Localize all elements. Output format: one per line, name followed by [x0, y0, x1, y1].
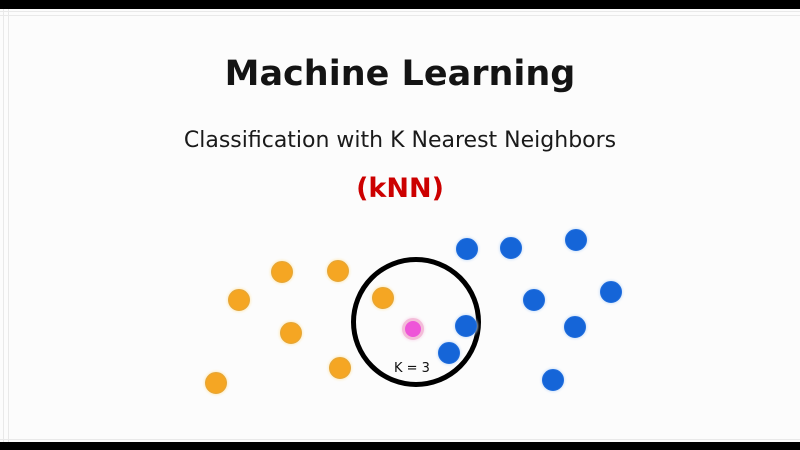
- slide-acronym: (kNN): [0, 172, 800, 206]
- data-point-class-b: [600, 281, 622, 303]
- data-point-class-b: [565, 229, 587, 251]
- data-point-class-a: [228, 289, 250, 311]
- data-point-class-a: [327, 260, 349, 282]
- video-frame: Machine Learning Classification with K N…: [0, 0, 800, 450]
- slide-subtitle: Classification with K Nearest Neighbors: [0, 127, 800, 155]
- k-value-label: K = 3: [394, 361, 430, 376]
- data-point-class-b: [438, 342, 460, 364]
- data-point-class-a: [271, 261, 293, 283]
- slide-canvas: Machine Learning Classification with K N…: [0, 9, 800, 442]
- data-point-class-a: [329, 357, 351, 379]
- letterbox-bar-top: [0, 0, 800, 9]
- data-point-class-b: [456, 238, 478, 260]
- query-data-point: [402, 318, 424, 340]
- data-point-class-b: [564, 316, 586, 338]
- data-point-class-b: [523, 289, 545, 311]
- data-point-class-b: [542, 369, 564, 391]
- data-point-class-b: [455, 315, 477, 337]
- data-point-class-a: [280, 322, 302, 344]
- data-point-class-a: [205, 372, 227, 394]
- letterbox-bar-bottom: [0, 442, 800, 450]
- page-title: Machine Learning: [0, 53, 800, 95]
- data-point-class-b: [500, 237, 522, 259]
- data-point-class-a: [372, 287, 394, 309]
